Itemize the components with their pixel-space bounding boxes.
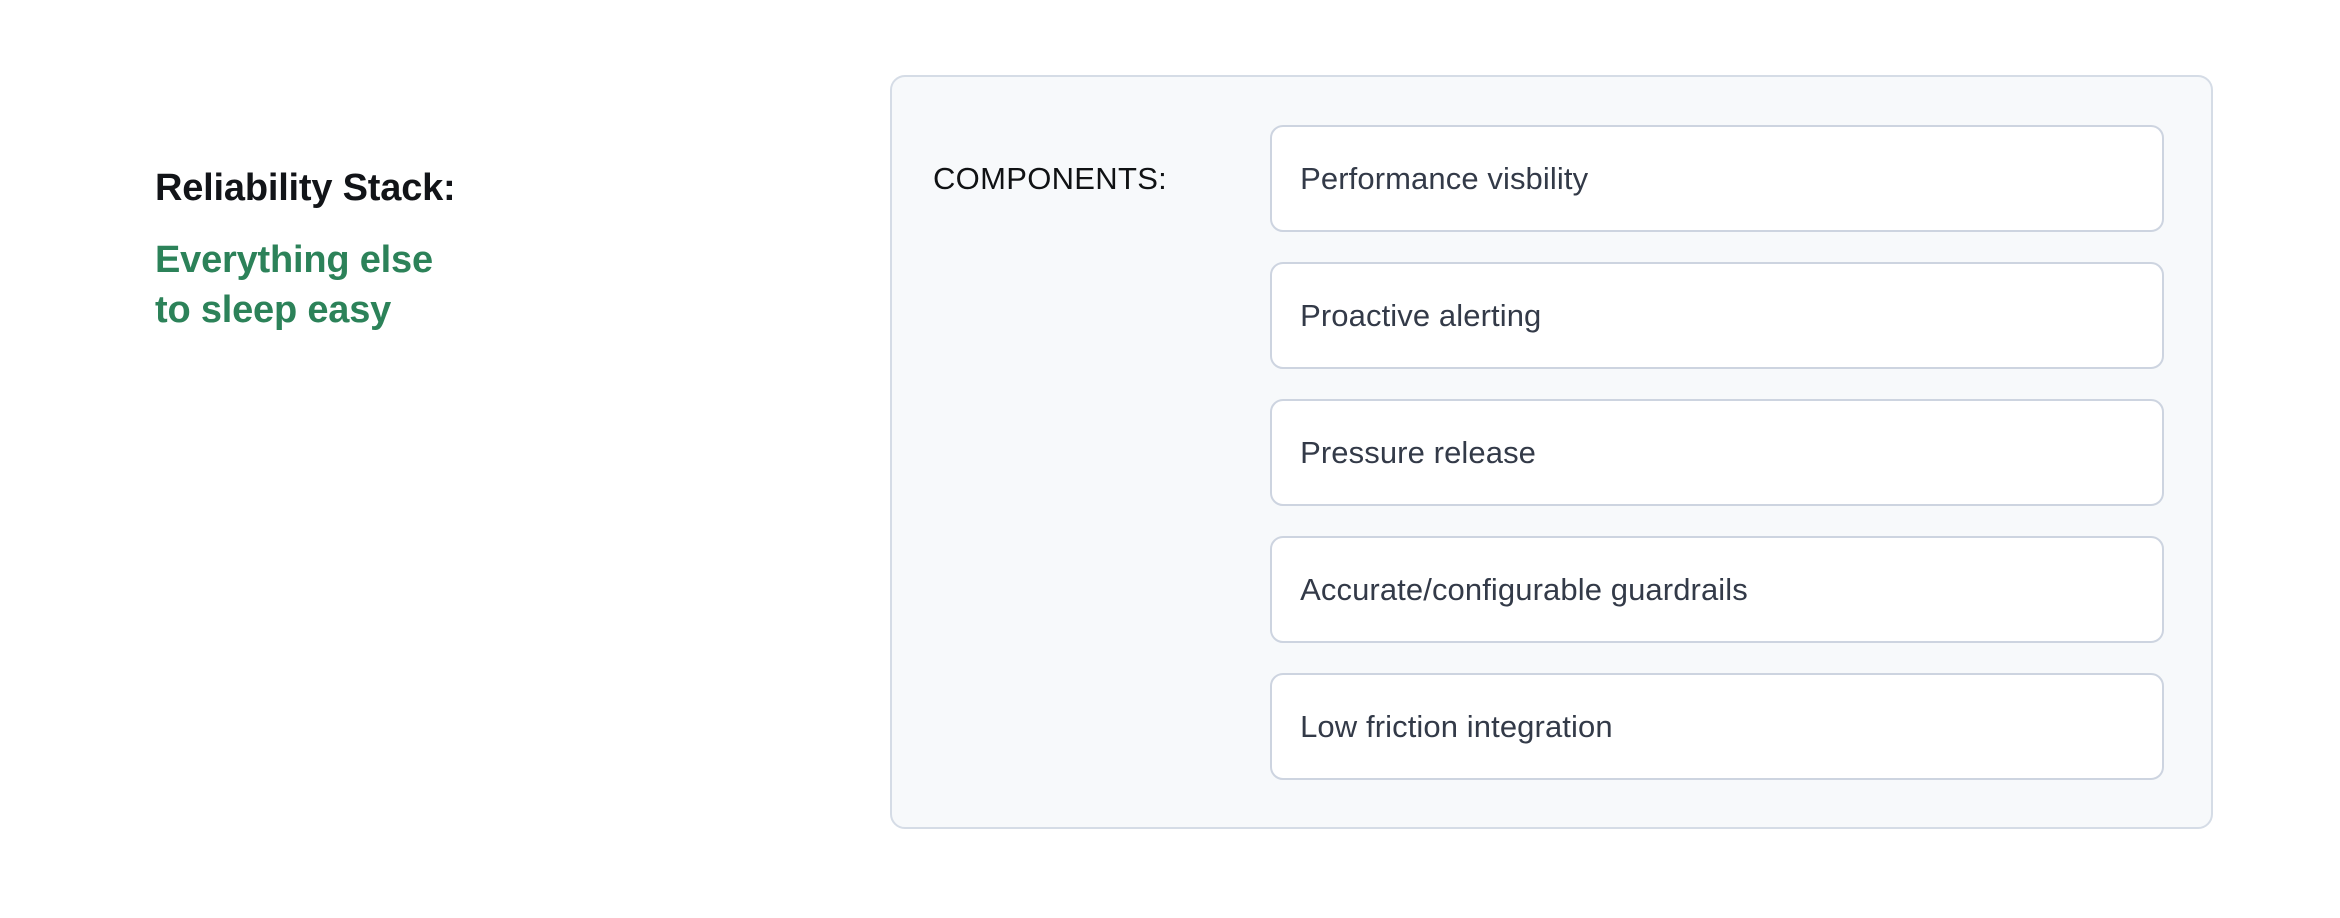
page-title: Reliability Stack: [155, 165, 755, 213]
intro-block: Reliability Stack: Everything elseto sle… [155, 165, 755, 335]
components-panel: COMPONENTS: Performance visbility Proact… [890, 75, 2213, 829]
list-item[interactable]: Pressure release [1270, 399, 2164, 506]
list-item-label: Low friction integration [1300, 708, 1613, 745]
components-list: Performance visbility Proactive alerting… [1270, 125, 2164, 780]
components-label: COMPONENTS: [933, 125, 1167, 232]
list-item[interactable]: Performance visbility [1270, 125, 2164, 232]
list-item-label: Accurate/configurable guardrails [1300, 571, 1748, 608]
page-subtitle-line-2: to sleep easy [155, 289, 391, 331]
list-item-label: Performance visbility [1300, 160, 1588, 197]
list-item-label: Pressure release [1300, 434, 1536, 471]
page-subtitle: Everything elseto sleep easy [155, 235, 525, 335]
page-subtitle-line-1: Everything else [155, 239, 433, 281]
list-item-label: Proactive alerting [1300, 297, 1541, 334]
list-item[interactable]: Low friction integration [1270, 673, 2164, 780]
list-item[interactable]: Proactive alerting [1270, 262, 2164, 369]
list-item[interactable]: Accurate/configurable guardrails [1270, 536, 2164, 643]
